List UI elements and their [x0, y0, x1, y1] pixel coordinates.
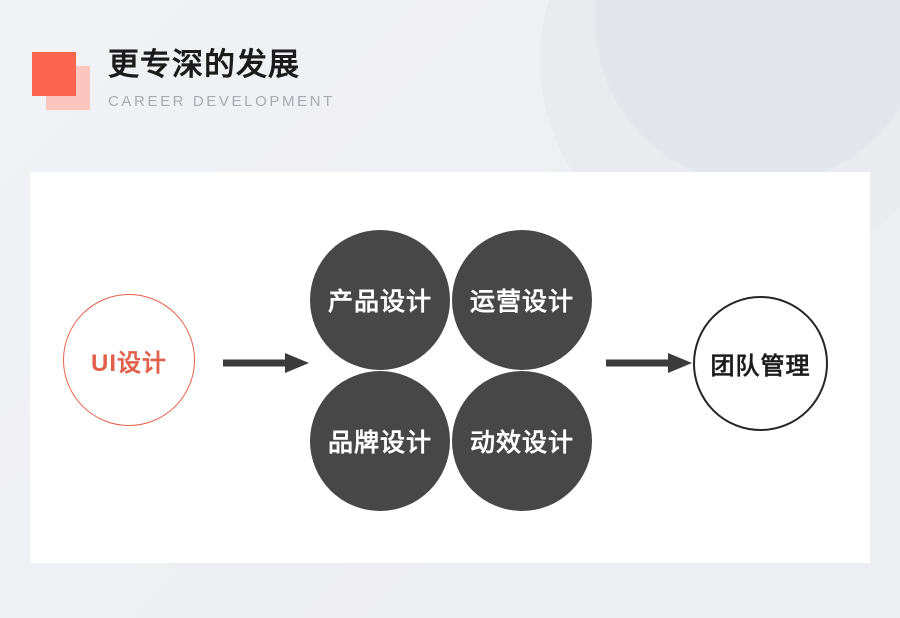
diagram-node-label: 品牌设计 — [328, 423, 432, 459]
diagram-node-operation-design[interactable]: 运营设计 — [452, 230, 592, 370]
diagram-node-label: 团队管理 — [711, 346, 811, 381]
diagram-node-label: 产品设计 — [328, 282, 432, 318]
diagram-node-team-management[interactable]: 团队管理 — [693, 296, 828, 431]
arrow-right-icon-middle-to-end — [606, 350, 692, 376]
career-path-diagram: UI设计 产品设计 运营设计 品牌设计 动效设计 — [30, 172, 870, 563]
diagram-node-ui-design[interactable]: UI设计 — [63, 294, 195, 426]
header-text-block: 更专深的发展 CAREER DEVELOPMENT — [108, 44, 335, 112]
page-title: 更专深的发展 — [108, 44, 335, 86]
diagram-node-label: 运营设计 — [470, 282, 574, 318]
logo-square-front-icon — [32, 52, 76, 96]
diagram-node-motion-design[interactable]: 动效设计 — [452, 371, 592, 511]
logo-mark — [32, 52, 90, 110]
diagram-node-label: 动效设计 — [470, 423, 574, 459]
arrow-right-icon-start-to-middle — [223, 350, 309, 376]
diagram-node-brand-design[interactable]: 品牌设计 — [310, 371, 450, 511]
content-card: UI设计 产品设计 运营设计 品牌设计 动效设计 — [30, 172, 870, 563]
page-subtitle: CAREER DEVELOPMENT — [108, 92, 335, 112]
diagram-node-label: UI设计 — [91, 343, 167, 378]
diagram-node-product-design[interactable]: 产品设计 — [310, 230, 450, 370]
page-header: 更专深的发展 CAREER DEVELOPMENT — [0, 0, 900, 172]
